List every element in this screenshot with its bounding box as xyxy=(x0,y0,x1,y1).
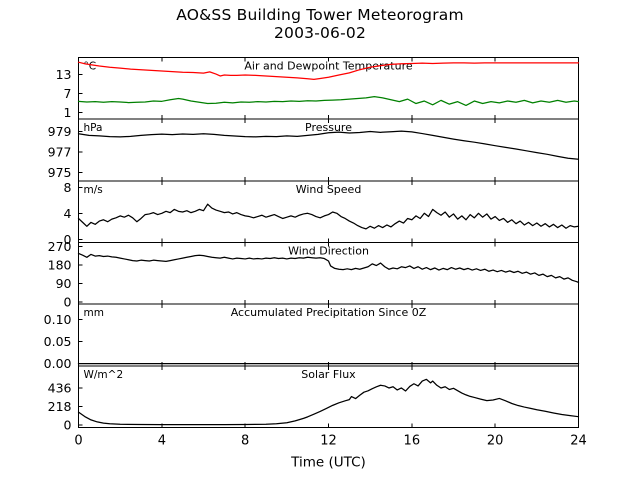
ytick-label-pressure: 977 xyxy=(48,145,72,160)
title-line-2: 2003-06-02 xyxy=(0,24,640,42)
unit-label-air-and-dewpoint-temperature: °C xyxy=(84,61,97,73)
ytick-label-solar-flux: 218 xyxy=(48,399,72,414)
meteogram-figure: AO&SS Building Tower Meteorogram 2003-06… xyxy=(0,0,640,480)
panel-title-wind-direction: Wind Direction xyxy=(288,245,369,258)
ytick-label-air-and-dewpoint-temperature: 13 xyxy=(56,67,72,82)
xaxis-tick-label: 4 xyxy=(158,434,166,449)
ytick-label-air-and-dewpoint-temperature: 1 xyxy=(64,105,72,120)
panel-title-accumulated-precipitation: Accumulated Precipitation Since 0Z xyxy=(231,306,427,319)
title-line-1: AO&SS Building Tower Meteorogram xyxy=(0,6,640,24)
ytick-label-pressure: 975 xyxy=(48,165,72,180)
ytick-label-wind-direction: 180 xyxy=(48,258,72,273)
unit-label-wind-speed: m/s xyxy=(84,184,103,196)
meteogram-plot-area: 1713°CAir and Dewpoint Temperature975977… xyxy=(0,0,640,480)
trace-wind-direction xyxy=(79,253,579,282)
ytick-label-wind-direction: 0 xyxy=(64,295,72,310)
panel-title-solar-flux: Solar Flux xyxy=(301,368,356,381)
panel-title-air-and-dewpoint-temperature: Air and Dewpoint Temperature xyxy=(244,60,412,73)
unit-label-pressure: hPa xyxy=(84,122,103,134)
ytick-label-accumulated-precipitation: 0.10 xyxy=(44,312,72,327)
ytick-label-wind-speed: 4 xyxy=(64,206,72,221)
xaxis-tick-label: 16 xyxy=(404,434,421,449)
xaxis-tick-label: 24 xyxy=(570,434,587,449)
trace-air-and-dewpoint-temperature xyxy=(79,97,579,106)
figure-title: AO&SS Building Tower Meteorogram 2003-06… xyxy=(0,6,640,43)
unit-label-accumulated-precipitation: mm xyxy=(84,307,104,319)
panel-title-wind-speed: Wind Speed xyxy=(296,183,362,196)
ytick-label-wind-direction: 90 xyxy=(56,276,72,291)
ytick-label-accumulated-precipitation: 0.05 xyxy=(44,334,72,349)
xaxis-tick-label: 0 xyxy=(74,434,82,449)
xaxis-tick-label: 8 xyxy=(241,434,249,449)
ytick-label-wind-direction: 270 xyxy=(48,239,72,254)
unit-label-solar-flux: W/m^2 xyxy=(84,369,124,381)
trace-solar-flux xyxy=(79,379,579,424)
ytick-label-solar-flux: 0 xyxy=(64,417,72,432)
xaxis-title: Time (UTC) xyxy=(290,455,366,471)
ytick-label-air-and-dewpoint-temperature: 7 xyxy=(64,86,72,101)
trace-wind-speed xyxy=(79,204,579,229)
ytick-label-solar-flux: 436 xyxy=(48,381,72,396)
trace-pressure xyxy=(79,131,579,159)
xaxis-tick-label: 12 xyxy=(320,434,337,449)
xaxis-tick-label: 20 xyxy=(487,434,504,449)
ytick-label-pressure: 979 xyxy=(48,124,72,139)
ytick-label-accumulated-precipitation: 0.00 xyxy=(44,356,72,371)
ytick-label-wind-speed: 8 xyxy=(64,180,72,195)
